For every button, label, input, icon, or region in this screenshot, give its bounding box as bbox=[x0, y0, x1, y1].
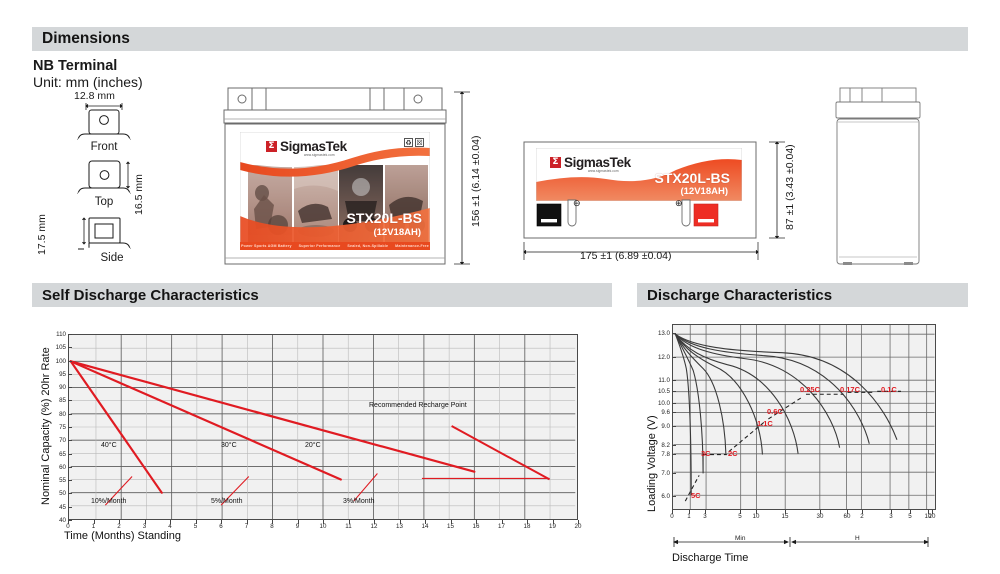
discharge-xtick-60-7: 60 bbox=[841, 513, 853, 520]
selfdis-ytick-mark bbox=[68, 480, 72, 481]
selfdis-ytick-mark bbox=[68, 493, 72, 494]
selfdis-xtick-19: 19 bbox=[548, 523, 558, 530]
self-discharge-plot-area: 40°C 30°C 20°C 10%/Month 5%/Month 3%/Mon… bbox=[68, 334, 578, 520]
discharge-xtick-1-1: 1 bbox=[683, 513, 695, 520]
selfdis-ytick-mark bbox=[68, 467, 72, 468]
selfdis-xtick-9: 9 bbox=[293, 523, 303, 530]
section-header-self-discharge: Self Discharge Characteristics bbox=[32, 283, 612, 307]
selfdis-xtick-mark bbox=[196, 520, 197, 524]
discharge-xtick-mark bbox=[756, 510, 757, 514]
discharge-xtick-mark bbox=[932, 510, 933, 514]
selfdis-ytick-mark bbox=[68, 440, 72, 441]
discharge-xtick-30-6: 30 bbox=[814, 513, 826, 520]
discharge-ytick-13: 13.0 bbox=[648, 330, 670, 337]
selfdis-xtick-12: 12 bbox=[369, 523, 379, 530]
selfdis-xtick-7: 7 bbox=[242, 523, 252, 530]
terminal-view-front: Front bbox=[70, 102, 180, 153]
selfdis-ytick-mark bbox=[68, 454, 72, 455]
selfdis-xtick-mark bbox=[578, 520, 579, 524]
discharge-xtick-mark bbox=[705, 510, 706, 514]
section-header-dimensions: Dimensions bbox=[32, 27, 968, 51]
selfdis-xtick-10: 10 bbox=[318, 523, 328, 530]
selfdis-ytick-110: 110 bbox=[50, 331, 66, 338]
model-capacity-side: (12V18AH) bbox=[680, 186, 728, 197]
label-1.1C: 1.1C bbox=[757, 419, 773, 428]
selfdis-xtick-11: 11 bbox=[344, 523, 354, 530]
discharge-ytick-7: 7.0 bbox=[648, 470, 670, 477]
selfdis-ytick-mark bbox=[68, 400, 72, 401]
discharge-xtick-mark bbox=[672, 510, 673, 514]
battery-depth-label: 87 ±1 (3.43 ±0.04) bbox=[784, 144, 796, 230]
annotation-rate-10: 10%/Month bbox=[91, 498, 126, 505]
eco-icon-group: ♻ ☒ bbox=[402, 138, 424, 147]
selfdis-xtick-2: 2 bbox=[114, 523, 124, 530]
selfdis-xtick-mark bbox=[170, 520, 171, 524]
selfdis-ytick-mark bbox=[68, 427, 72, 428]
discharge-xtick-3-9: 3 bbox=[885, 513, 897, 520]
model-name-front: STX20L-BS bbox=[347, 210, 422, 226]
selfdis-ytick-90: 90 bbox=[50, 384, 66, 391]
curve-0.1C bbox=[675, 334, 897, 440]
discharge-ytick-mark bbox=[672, 454, 676, 455]
selfdis-xtick-13: 13 bbox=[395, 523, 405, 530]
model-capacity-front: (12V18AH) bbox=[373, 227, 421, 238]
selfdis-xtick-15: 15 bbox=[446, 523, 456, 530]
discharge-xtick-mark bbox=[689, 510, 690, 514]
label-0.17C: 0.17C bbox=[840, 385, 860, 394]
selfdis-xtick-mark bbox=[247, 520, 248, 524]
selfdis-xtick-mark bbox=[298, 520, 299, 524]
selfdis-xtick-20: 20 bbox=[573, 523, 583, 530]
battery-length-label: 175 ±1 (6.89 ±0.04) bbox=[580, 250, 672, 262]
section-title-dimensions: Dimensions bbox=[42, 30, 130, 48]
recycle-icon: ♻ bbox=[404, 138, 413, 147]
tagline-item-1: Power Sports AGM Battery bbox=[241, 244, 292, 248]
brand-lockup-side: Σ SigmasTek bbox=[550, 155, 631, 170]
brand-url-side: www.sigmastek.com bbox=[588, 169, 619, 173]
battery-height-label: 156 ±1 (6.14 ±0.04) bbox=[470, 135, 482, 227]
selfdis-ytick-mark bbox=[68, 414, 72, 415]
axis-group-label-min: Min bbox=[735, 535, 745, 542]
selfdis-xtick-17: 17 bbox=[497, 523, 507, 530]
selfdis-ytick-45: 45 bbox=[50, 504, 66, 511]
selfdis-xtick-mark bbox=[68, 520, 69, 524]
label-5C: 5C bbox=[691, 491, 701, 500]
tagline-item-2: Superior Performance bbox=[299, 244, 341, 248]
discharge-axis-brackets bbox=[670, 534, 938, 550]
selfdis-ytick-mark bbox=[68, 387, 72, 388]
discharge-ytick-mark bbox=[672, 403, 676, 404]
annotation-rate-5: 5%/Month bbox=[211, 498, 243, 505]
discharge-ytick-9: 9.0 bbox=[648, 423, 670, 430]
discharge-x-axis-title: Discharge Time bbox=[672, 552, 748, 564]
discharge-ytick-mark bbox=[672, 473, 676, 474]
discharge-xtick-mark bbox=[785, 510, 786, 514]
curve-2C bbox=[675, 334, 725, 453]
battery-front-view: Σ SigmasTek www.sigmastek.com ♻ ☒ STX20L… bbox=[222, 86, 448, 268]
discharge-ytick-10: 10.0 bbox=[648, 400, 670, 407]
brand-name-side: SigmasTek bbox=[564, 155, 631, 170]
selfdis-ytick-85: 85 bbox=[50, 397, 66, 404]
discharge-xtick-0-0: 0 bbox=[666, 513, 678, 520]
label-2C: 2C bbox=[728, 449, 738, 458]
selfdis-xtick-mark bbox=[119, 520, 120, 524]
selfdis-xtick-mark bbox=[527, 520, 528, 524]
annotation-40c: 40°C bbox=[101, 442, 117, 449]
tagline-item-4: Maintenance-Free bbox=[395, 244, 429, 248]
unit-note: Unit: mm (inches) bbox=[33, 74, 143, 90]
selfdis-x-axis-title: Time (Months) Standing bbox=[64, 530, 181, 542]
brand-lockup: Σ SigmasTek bbox=[266, 139, 347, 154]
selfdis-xtick-mark bbox=[374, 520, 375, 524]
discharge-ytick-8.2: 8.2 bbox=[648, 442, 670, 449]
label-0.1C: 0.1C bbox=[881, 385, 897, 394]
annotation-20c: 20°C bbox=[305, 442, 321, 449]
selfdis-xtick-4: 4 bbox=[165, 523, 175, 530]
discharge-xtick-2-8: 2 bbox=[856, 513, 868, 520]
discharge-xtick-mark bbox=[847, 510, 848, 514]
selfdis-ytick-95: 95 bbox=[50, 371, 66, 378]
selfdis-xtick-mark bbox=[502, 520, 503, 524]
selfdis-xtick-mark bbox=[145, 520, 146, 524]
selfdis-xtick-8: 8 bbox=[267, 523, 277, 530]
discharge-ytick-mark bbox=[672, 445, 676, 446]
label-3C: 3C bbox=[701, 449, 711, 458]
discharge-ytick-mark bbox=[672, 333, 676, 334]
selfdis-xtick-mark bbox=[221, 520, 222, 524]
selfdis-ytick-mark bbox=[68, 347, 72, 348]
selfdis-xtick-mark bbox=[451, 520, 452, 524]
discharge-xtick-20-12: 20 bbox=[926, 513, 938, 520]
axis-group-label-hour: H bbox=[855, 535, 860, 542]
top-view-label: Top bbox=[70, 196, 138, 208]
selfdis-xtick-16: 16 bbox=[471, 523, 481, 530]
selfdis-xtick-18: 18 bbox=[522, 523, 532, 530]
discharge-ytick-mark bbox=[672, 412, 676, 413]
discharge-ytick-mark bbox=[672, 496, 676, 497]
selfdis-ytick-mark bbox=[68, 361, 72, 362]
discharge-ytick-mark bbox=[672, 380, 676, 381]
discharge-plot-area: 5C 3C 2C 1.1C 0.6C 0.25C 0.17C 0.1C bbox=[672, 324, 936, 510]
curve-5C bbox=[675, 334, 691, 495]
selfdis-xtick-5: 5 bbox=[191, 523, 201, 530]
discharge-xtick-15-5: 15 bbox=[779, 513, 791, 520]
selfdis-xtick-mark bbox=[476, 520, 477, 524]
selfdis-ytick-65: 65 bbox=[50, 451, 66, 458]
selfdis-ytick-mark bbox=[68, 374, 72, 375]
battery-side-view: Σ SigmasTek www.sigmastek.com STX20L-BS … bbox=[522, 140, 758, 240]
selfdis-ytick-75: 75 bbox=[50, 424, 66, 431]
discharge-xtick-mark bbox=[891, 510, 892, 514]
negative-polarity-icon: ⊖ bbox=[573, 198, 581, 209]
selfdis-ytick-55: 55 bbox=[50, 477, 66, 484]
selfdis-xtick-mark bbox=[272, 520, 273, 524]
negative-terminal-block bbox=[537, 204, 561, 226]
battery-front-label: Σ SigmasTek www.sigmastek.com ♻ ☒ STX20L… bbox=[240, 132, 430, 250]
selfdis-xtick-0: 0 bbox=[63, 523, 73, 530]
front-width-label: 12.8 mm bbox=[74, 90, 115, 102]
annotation-rate-3: 3%/Month bbox=[343, 498, 375, 505]
discharge-ytick-12: 12.0 bbox=[648, 354, 670, 361]
section-header-discharge: Discharge Characteristics bbox=[637, 283, 968, 307]
discharge-xtick-10-4: 10 bbox=[750, 513, 762, 520]
discharge-ytick-7.8: 7.8 bbox=[648, 451, 670, 458]
side-view-label: Side bbox=[76, 252, 148, 264]
discharge-ytick-mark bbox=[672, 391, 676, 392]
discharge-ytick-11: 11.0 bbox=[648, 377, 670, 384]
selfdis-xtick-mark bbox=[323, 520, 324, 524]
selfdis-ytick-50: 50 bbox=[50, 490, 66, 497]
selfdis-xtick-mark bbox=[425, 520, 426, 524]
battery-side-label: Σ SigmasTek www.sigmastek.com STX20L-BS … bbox=[536, 148, 742, 201]
terminal-row bbox=[522, 200, 758, 240]
discharge-ytick-mark bbox=[672, 426, 676, 427]
label-0.25C: 0.25C bbox=[800, 385, 820, 394]
discharge-xtick-mark bbox=[910, 510, 911, 514]
selfdis-ytick-100: 100 bbox=[50, 358, 66, 365]
discharge-xtick-3-2: 3 bbox=[699, 513, 711, 520]
brand-mark-icon-side: Σ bbox=[550, 157, 561, 168]
side-height-label: 17.5 mm bbox=[36, 214, 48, 255]
tagline-item-3: Sealed, Non-Spillable bbox=[347, 244, 388, 248]
annotation-30c: 30°C bbox=[221, 442, 237, 449]
selfdis-ytick-60: 60 bbox=[50, 464, 66, 471]
selfdis-xtick-mark bbox=[553, 520, 554, 524]
selfdis-xtick-1: 1 bbox=[89, 523, 99, 530]
selfdis-xtick-mark bbox=[94, 520, 95, 524]
selfdis-ytick-mark bbox=[68, 334, 72, 335]
brand-url: www.sigmastek.com bbox=[304, 153, 335, 157]
selfdis-xtick-14: 14 bbox=[420, 523, 430, 530]
discharge-ytick-9.6: 9.6 bbox=[648, 409, 670, 416]
top-height-label: 16.5 mm bbox=[133, 174, 145, 215]
annotation-recharge-point: Recommended Recharge Point bbox=[369, 402, 467, 409]
discharge-xtick-5-3: 5 bbox=[734, 513, 746, 520]
label-0.6C: 0.6C bbox=[767, 407, 783, 416]
discharge-chart-svg bbox=[673, 325, 935, 509]
self-discharge-chart-svg bbox=[69, 335, 577, 519]
selfdis-xtick-6: 6 bbox=[216, 523, 226, 530]
brand-name: SigmasTek bbox=[280, 139, 347, 154]
discharge-xtick-mark bbox=[820, 510, 821, 514]
section-title-discharge: Discharge Characteristics bbox=[647, 287, 832, 304]
discharge-xtick-mark bbox=[862, 510, 863, 514]
selfdis-ytick-105: 105 bbox=[50, 344, 66, 351]
positive-polarity-icon: ⊕ bbox=[675, 198, 683, 209]
no-dispose-icon: ☒ bbox=[415, 138, 424, 147]
nb-terminal-title: NB Terminal bbox=[33, 58, 117, 74]
selfdis-xtick-mark bbox=[400, 520, 401, 524]
selfdis-xtick-mark bbox=[349, 520, 350, 524]
discharge-ytick-mark bbox=[672, 357, 676, 358]
discharge-ytick-6: 6.0 bbox=[648, 493, 670, 500]
model-name-side: STX20L-BS bbox=[655, 170, 730, 186]
terminal-view-top: Top bbox=[70, 158, 180, 208]
discharge-xtick-5-10: 5 bbox=[904, 513, 916, 520]
selfdis-xtick-3: 3 bbox=[140, 523, 150, 530]
battery-end-view bbox=[826, 86, 940, 268]
front-view-label: Front bbox=[70, 141, 138, 153]
brand-mark-icon: Σ bbox=[266, 141, 277, 152]
section-title-self-discharge: Self Discharge Characteristics bbox=[42, 287, 259, 304]
selfdis-ytick-70: 70 bbox=[50, 437, 66, 444]
discharge-xtick-mark bbox=[740, 510, 741, 514]
terminal-view-side: Side bbox=[70, 212, 180, 264]
selfdis-ytick-80: 80 bbox=[50, 411, 66, 418]
discharge-ytick-10.5: 10.5 bbox=[648, 388, 670, 395]
feature-tagline: Power Sports AGM Battery Superior Perfor… bbox=[240, 242, 430, 250]
positive-terminal-block bbox=[694, 204, 718, 226]
selfdis-ytick-mark bbox=[68, 507, 72, 508]
